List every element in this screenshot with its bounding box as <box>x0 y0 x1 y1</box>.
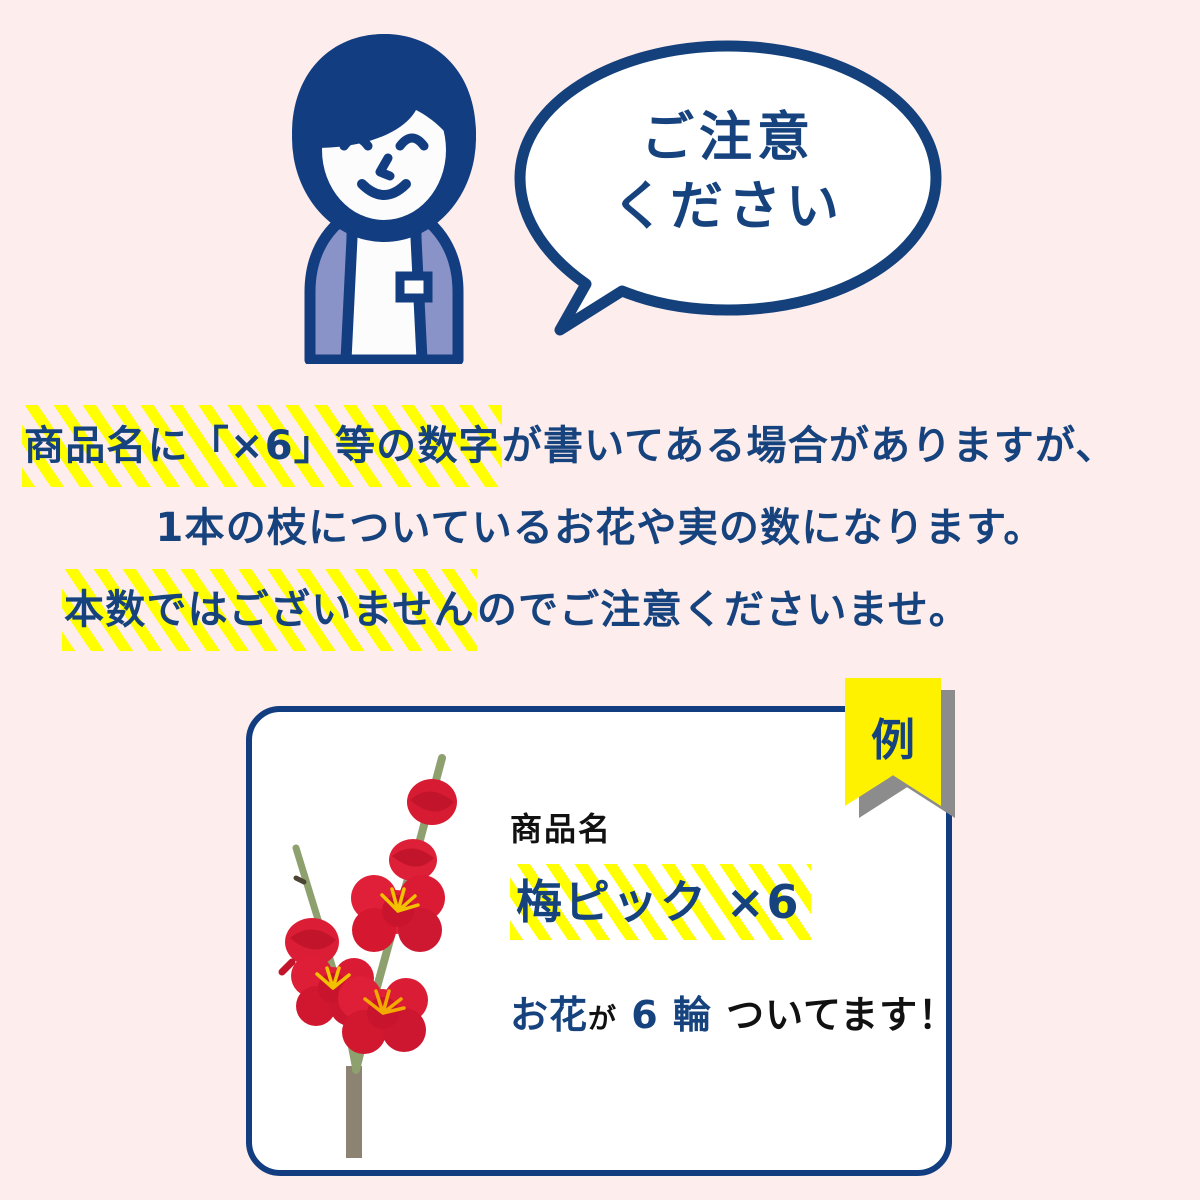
note-part-tail: ついてます！ <box>726 993 957 1037</box>
note-part-particle: が <box>588 1002 617 1035</box>
flower-bud-second <box>389 839 437 881</box>
notice-line-3-plain: のでご注意くださいませ。 <box>477 587 970 633</box>
example-card-body: 商品名 梅ピック ×6 お花が 6 輪 ついてます！ <box>510 804 950 1039</box>
notice-message: 商品名に「×6」等の数字が書いてある場合がありますが、 1本の枝についているお花… <box>0 405 1200 651</box>
notice-line-2-plain: 1本の枝についているお花や実の数になります。 <box>155 505 1044 551</box>
notice-line-3-highlight: 本数ではございません <box>62 569 477 651</box>
speech-bubble <box>512 38 944 338</box>
product-name-value: 梅ピック ×6 <box>510 864 811 940</box>
note-part-count: 6 輪 <box>631 993 712 1037</box>
ume-plum-pick-photo <box>270 730 522 1162</box>
blossom-count-note: お花が 6 輪 ついてます！ <box>510 984 950 1039</box>
notice-line-1-highlight: 商品名に「×6」等の数字 <box>22 405 502 487</box>
shop-staff-mascot-icon <box>276 24 492 364</box>
ribbon-label: 例 <box>845 704 941 768</box>
note-part-flower: お花 <box>510 993 588 1037</box>
header-zone: ご注意 ください <box>0 0 1200 385</box>
notice-line-1-plain: が書いてある場合がありますが、 <box>502 423 1117 469</box>
flower-bud-top <box>407 779 457 825</box>
product-name-label: 商品名 <box>510 804 950 850</box>
notice-banner: ご注意 ください 商品名に「×6」等の数字が書いてある場合がありますが、 1本の… <box>0 0 1200 1200</box>
example-ribbon: 例 <box>845 678 941 806</box>
notice-line-1: 商品名に「×6」等の数字が書いてある場合がありますが、 <box>0 405 1200 487</box>
notice-line-2: 1本の枝についているお花や実の数になります。 <box>0 487 1200 569</box>
product-name-value-row: 梅ピック ×6 <box>510 864 950 940</box>
notice-line-3: 本数ではございませんのでご注意くださいませ。 <box>0 569 1200 651</box>
